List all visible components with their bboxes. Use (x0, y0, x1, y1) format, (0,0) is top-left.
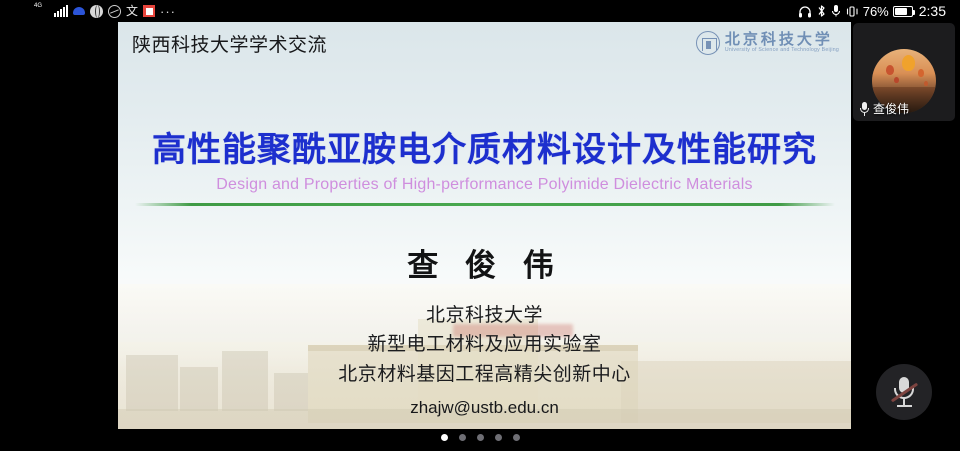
silent-mode-icon (90, 5, 103, 18)
vibrate-icon (845, 5, 859, 18)
university-seal-icon (696, 31, 720, 55)
status-bar-right: 76% 2:35 (798, 3, 946, 19)
speaker-affiliation-2: 新型电工材料及应用实验室 (118, 330, 851, 359)
signal-4g-label: 4G (34, 3, 42, 9)
slide-header-title: 陕西科技大学学术交流 (132, 30, 327, 57)
slide-divider (135, 203, 835, 206)
slide-subheadline: Design and Properties of High-performanc… (118, 176, 851, 194)
battery-percent-label: 76% (863, 4, 889, 19)
meeting-screen: 4G 文 ··· 76% 2:35 (0, 0, 960, 451)
status-bar: 4G 文 ··· 76% 2:35 (0, 0, 960, 22)
microphone-icon (831, 4, 841, 18)
battery-icon (893, 6, 913, 17)
slide-title-block: 高性能聚酰亚胺电介质材料设计及性能研究 Design and Propertie… (118, 130, 851, 206)
page-dot-3[interactable] (477, 434, 484, 441)
speaker-affiliation-3: 北京材料基因工程高精尖创新中心 (118, 360, 851, 389)
participant-tile-footer: 查俊伟 (859, 100, 909, 117)
slide-header: 陕西科技大学学术交流 北京科技大学 University of Science … (118, 22, 851, 64)
participant-name: 查俊伟 (873, 100, 909, 117)
status-bar-clock: 2:35 (919, 3, 946, 19)
university-logo-name-cn: 北京科技大学 (725, 32, 839, 48)
page-dot-1[interactable] (441, 434, 448, 441)
signal-4g-icon: 4G (44, 5, 68, 17)
participant-video-tile[interactable]: 查俊伟 (853, 23, 955, 121)
microphone-muted-icon (891, 376, 917, 408)
screen-record-icon (108, 5, 121, 18)
page-dot-5[interactable] (513, 434, 520, 441)
speaker-email: zhajw@ustb.edu.cn (118, 398, 851, 418)
page-indicator[interactable] (0, 434, 960, 441)
mute-button[interactable] (876, 364, 932, 420)
speaker-name: 查 俊 伟 (118, 240, 851, 285)
stop-recording-icon (143, 5, 155, 17)
page-dot-4[interactable] (495, 434, 502, 441)
university-logo: 北京科技大学 University of Science and Technol… (696, 31, 839, 55)
microphone-icon (859, 102, 870, 116)
speaker-affiliation-1: 北京科技大学 (118, 301, 851, 330)
headphone-icon (798, 5, 812, 18)
slide-speaker-block: 查 俊 伟 北京科技大学 新型电工材料及应用实验室 北京材料基因工程高精尖创新中… (118, 240, 851, 429)
status-bar-left: 4G 文 ··· (44, 5, 176, 18)
page-dot-2[interactable] (459, 434, 466, 441)
bluetooth-icon (816, 4, 827, 18)
input-method-chinese-icon: 文 (126, 5, 138, 17)
university-logo-name-en: University of Science and Technology Bei… (725, 48, 839, 53)
shared-slide[interactable]: 陕西科技大学学术交流 北京科技大学 University of Science … (118, 22, 851, 429)
slide-headline: 高性能聚酰亚胺电介质材料设计及性能研究 (118, 130, 851, 170)
more-notifications-icon: ··· (160, 5, 176, 18)
data-transfer-icon (73, 7, 85, 15)
